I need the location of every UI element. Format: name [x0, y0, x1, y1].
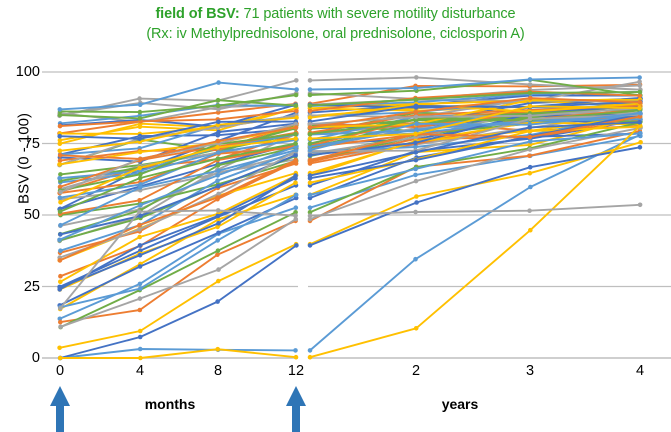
- data-point-P52-0: [58, 149, 63, 154]
- data-point-P16-4: [138, 329, 143, 334]
- data-point-P26-8: [215, 252, 220, 257]
- data-point-P48-12-right: [308, 93, 313, 98]
- data-point-P65-0: [58, 223, 63, 228]
- treatment-arrow-12-months-icon: [283, 386, 309, 432]
- data-point-P66-0: [58, 113, 63, 118]
- data-point-P62-3: [528, 135, 533, 140]
- data-point-P31-4: [138, 335, 143, 340]
- data-point-P5-3: [528, 185, 533, 190]
- data-point-P34-4: [137, 235, 142, 240]
- y-tick-label-75: 75: [0, 136, 40, 152]
- data-point-P67-0: [58, 285, 63, 290]
- data-point-P68-0: [58, 153, 63, 158]
- data-point-P70-4: [137, 166, 142, 171]
- data-point-P60-12-right: [308, 141, 313, 146]
- data-point-P29-8: [215, 178, 220, 183]
- data-point-P36-8: [216, 163, 221, 168]
- data-point-P68-4: [638, 100, 643, 105]
- data-point-P69-8: [216, 208, 221, 213]
- data-point-P68-12-right: [308, 125, 313, 130]
- data-point-P68-2: [414, 110, 419, 115]
- data-point-P20-0: [58, 274, 63, 279]
- data-point-P69-3: [527, 208, 532, 213]
- data-point-P6-0: [58, 172, 63, 177]
- data-point-P67-12-right: [308, 173, 313, 178]
- data-point-P31-2: [414, 200, 419, 205]
- data-point-P39-4: [637, 83, 642, 88]
- data-point-P59-4: [638, 131, 643, 136]
- data-point-P16-2: [414, 194, 419, 199]
- data-point-P26-4: [138, 308, 143, 313]
- data-point-P53-8: [215, 173, 220, 178]
- patient-line-P69-years: [310, 205, 640, 216]
- data-point-P5-12-right: [308, 348, 313, 353]
- data-point-P5-4: [138, 347, 143, 352]
- data-point-P16-8: [216, 279, 221, 284]
- data-point-P53-2: [414, 127, 419, 132]
- data-point-P51-8: [216, 267, 221, 272]
- data-point-P63-2: [414, 115, 419, 120]
- data-point-P11-2: [413, 173, 418, 178]
- data-point-P70-2: [413, 132, 418, 137]
- data-point-P31-12-right: [308, 243, 313, 248]
- data-point-P51-0: [58, 325, 63, 330]
- data-point-P59-12: [294, 193, 299, 198]
- data-point-P63-0: [58, 190, 63, 195]
- data-point-P62-12: [293, 158, 298, 163]
- data-point-P56-12: [294, 109, 299, 114]
- data-point-P59-4: [138, 286, 143, 291]
- data-point-P62-12-right: [308, 158, 313, 163]
- data-point-P11-12: [294, 205, 299, 210]
- treatment-arrow-baseline-icon: [47, 386, 73, 432]
- data-point-P54-12: [293, 132, 298, 137]
- data-point-P49-12-right: [308, 153, 313, 158]
- data-point-P71-4: [637, 75, 642, 80]
- x-tick-label-8-2: 8: [193, 363, 243, 379]
- data-point-P69-4: [137, 209, 142, 214]
- data-point-P49-0: [58, 232, 63, 237]
- data-point-P61-0: [57, 134, 62, 139]
- data-point-P53-0: [57, 238, 62, 243]
- data-point-P5-2: [413, 257, 418, 262]
- data-point-P65-8: [216, 168, 221, 173]
- plot-area: [0, 0, 671, 431]
- data-point-P49-2: [413, 141, 418, 146]
- data-point-P69-2: [413, 210, 418, 215]
- data-point-P31-8: [215, 299, 220, 304]
- data-point-P37-8: [216, 231, 221, 236]
- data-point-P49-4: [138, 214, 143, 219]
- data-point-P25-8: [216, 130, 221, 135]
- data-point-P66-4: [638, 90, 643, 95]
- data-point-P11-12-right: [308, 205, 313, 210]
- x-tick-label-12-3: 12: [271, 363, 321, 379]
- data-point-P33-3: [528, 82, 533, 87]
- x-tick-label-3-5: 3: [505, 363, 555, 379]
- patient-trajectories: [57, 75, 643, 360]
- data-point-P58-0: [57, 162, 62, 167]
- data-point-P59-12-right: [308, 193, 313, 198]
- data-point-P71-8: [216, 80, 221, 85]
- data-point-P65-4: [138, 185, 143, 190]
- data-point-P34-0: [58, 280, 63, 285]
- data-point-P26-3: [527, 154, 532, 159]
- data-point-P59-8: [215, 238, 220, 243]
- data-point-P71-2: [413, 86, 418, 91]
- data-point-P67-12: [293, 173, 298, 178]
- data-point-P64-3: [528, 228, 533, 233]
- x-tick-label-0-0: 0: [35, 363, 85, 379]
- data-point-P70-12: [293, 136, 298, 141]
- data-point-P62-8: [215, 195, 220, 200]
- data-point-P71-12-right: [308, 87, 313, 92]
- data-point-P61-2: [414, 104, 419, 109]
- data-point-P69-0: [58, 306, 63, 311]
- data-point-P55-8: [215, 214, 220, 219]
- data-point-P71-4: [138, 102, 143, 107]
- data-point-P71-12: [294, 87, 299, 92]
- x-tick-label-2-4: 2: [391, 363, 441, 379]
- data-point-P68-3: [528, 96, 533, 101]
- data-point-P64-12: [294, 355, 299, 360]
- data-point-P33-2: [414, 75, 419, 80]
- data-point-P66-3: [528, 91, 533, 96]
- data-point-P69-12: [293, 213, 298, 218]
- data-point-P61-4: [137, 137, 142, 142]
- y-tick-label-50: 50: [0, 207, 40, 223]
- data-point-P51-4: [138, 296, 143, 301]
- data-point-P67-3: [527, 125, 532, 130]
- y-tick-label-25: 25: [0, 279, 40, 295]
- data-point-P65-12: [294, 148, 299, 153]
- data-point-P66-2: [414, 97, 419, 102]
- data-point-P65-12-right: [308, 148, 313, 153]
- data-point-P5-12: [293, 348, 298, 353]
- data-point-P67-2: [414, 150, 419, 155]
- data-point-P71-3: [528, 77, 533, 82]
- data-point-P47-8: [216, 150, 221, 155]
- data-point-P64-12-right: [308, 355, 313, 360]
- data-point-P53-4: [138, 203, 143, 208]
- data-point-P48-4: [138, 110, 143, 115]
- data-point-P26-0: [58, 320, 63, 325]
- data-point-P51-2: [414, 179, 419, 184]
- data-point-P54-12-right: [308, 132, 313, 137]
- data-point-P67-4: [138, 253, 143, 258]
- x-tick-label-4-1: 4: [115, 363, 165, 379]
- data-point-P64-2: [414, 326, 419, 331]
- x-axis-years-label: years: [400, 396, 520, 412]
- data-point-P42-8: [216, 248, 221, 253]
- data-point-P48-12: [294, 93, 299, 98]
- data-point-P46-12-right: [308, 180, 313, 185]
- data-point-P31-12: [294, 243, 299, 248]
- y-tick-label-0: 0: [0, 350, 40, 366]
- data-point-P64-4: [138, 356, 143, 361]
- data-point-P33-12: [294, 78, 299, 83]
- data-point-P49-8: [216, 184, 221, 189]
- data-point-P70-12-right: [308, 136, 313, 141]
- y-tick-label-100: 100: [0, 64, 40, 80]
- data-point-P59-2: [413, 167, 418, 172]
- data-point-P71-0: [58, 107, 63, 112]
- data-point-P67-4: [637, 120, 642, 125]
- data-point-P16-3: [528, 171, 533, 176]
- data-point-P41-0: [57, 176, 62, 181]
- data-point-P69-12-right: [308, 213, 313, 218]
- data-point-P68-8: [216, 139, 221, 144]
- data-point-P66-4: [138, 116, 143, 121]
- data-point-P51-3: [528, 147, 533, 152]
- data-point-P70-8: [215, 145, 220, 150]
- data-point-P49-12: [293, 153, 298, 158]
- data-point-P56-0: [58, 124, 63, 129]
- data-point-P55-2: [414, 158, 419, 163]
- data-point-P29-0: [58, 248, 63, 253]
- data-point-P57-4: [137, 227, 142, 232]
- x-tick-label-4-6: 4: [615, 363, 665, 379]
- data-point-P28-0: [58, 141, 63, 146]
- data-point-P68-12: [294, 125, 299, 130]
- data-point-P11-4: [138, 282, 143, 287]
- data-point-P55-4: [138, 243, 143, 248]
- data-point-P69-4: [638, 203, 643, 208]
- data-point-P65-2: [414, 121, 419, 126]
- chart-root: field of BSV: 71 patients with severe mo…: [0, 0, 671, 431]
- data-point-P44-4: [137, 198, 142, 203]
- data-point-P60-8: [216, 156, 221, 161]
- data-point-P62-4: [137, 223, 142, 228]
- data-point-P46-12: [293, 180, 298, 185]
- data-point-P70-4: [637, 106, 642, 111]
- data-point-P66-12-right: [308, 103, 313, 108]
- data-point-P65-4: [638, 111, 643, 116]
- data-point-P58-4: [138, 150, 143, 155]
- data-point-P70-0: [58, 200, 63, 205]
- data-point-P64-0: [58, 356, 63, 361]
- data-point-P48-8: [216, 103, 221, 108]
- data-point-P52-12: [294, 115, 299, 120]
- x-axis-months-label: months: [110, 396, 230, 412]
- data-point-P31-3: [528, 165, 533, 170]
- data-point-P56-12-right: [308, 109, 313, 114]
- data-point-P66-8: [216, 98, 221, 103]
- data-point-P59-3: [528, 139, 533, 144]
- data-point-P33-4: [137, 96, 142, 101]
- data-point-P64-8: [215, 347, 220, 352]
- data-point-P63-3: [527, 114, 532, 119]
- data-point-P47-0: [58, 195, 63, 200]
- data-point-P31-4: [638, 145, 643, 150]
- data-point-P16-4: [638, 140, 643, 145]
- data-point-P62-0: [58, 258, 63, 263]
- data-point-P67-8: [216, 221, 221, 226]
- data-point-P16-0: [57, 346, 62, 351]
- data-point-P37-4: [138, 264, 143, 269]
- data-point-P60-12: [293, 141, 298, 146]
- data-point-P68-4: [138, 157, 143, 162]
- data-point-P66-12: [294, 103, 299, 108]
- data-point-P60-4: [138, 176, 143, 181]
- data-point-P70-3: [528, 104, 533, 109]
- patient-line-P5-years: [310, 135, 639, 350]
- data-point-P60-0: [58, 209, 63, 214]
- data-point-P33-12-right: [308, 78, 313, 83]
- data-point-P61-8: [216, 120, 221, 125]
